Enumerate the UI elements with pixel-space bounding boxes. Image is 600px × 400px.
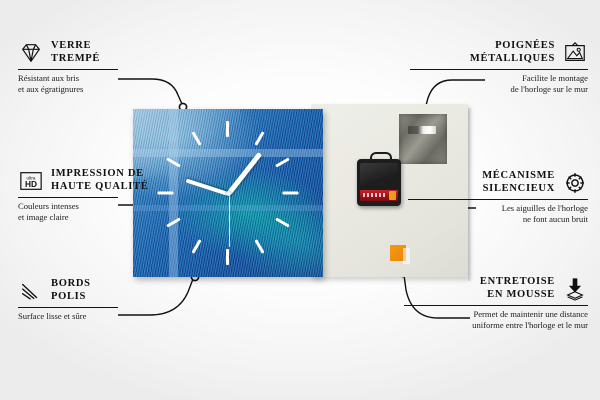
feature-title: VERRE TREMPÉ <box>51 40 100 65</box>
infographic-canvas: VERRE TREMPÉ Résistant aux bris et aux é… <box>0 0 600 400</box>
feature-title-line1: MÉCANISME <box>408 170 555 183</box>
hour-marker <box>283 192 299 195</box>
feature-header: MÉCANISME SILENCIEUX <box>408 170 588 195</box>
feature-entretoise-en-mousse: ENTRETOISE EN MOUSSE Permet de maintenir… <box>404 276 588 331</box>
hour-marker <box>275 157 289 167</box>
metal-hanger-part <box>399 114 447 164</box>
battery-part <box>360 190 398 201</box>
feature-title-line1: VERRE <box>51 40 100 53</box>
feature-rule <box>404 305 588 306</box>
feature-verre-trempe: VERRE TREMPÉ Résistant aux bris et aux é… <box>18 40 193 95</box>
diamond-icon <box>18 41 44 65</box>
feature-title-line2: POLIS <box>51 291 91 304</box>
mechanism-sheen <box>360 163 398 185</box>
clock-mechanism-part <box>357 159 401 206</box>
feature-sub-line2: ne font aucun bruit <box>408 214 588 225</box>
feature-subtitle: Facilite le montage de l'horloge sur le … <box>410 73 588 94</box>
feature-sub-line2: et image claire <box>18 212 193 223</box>
feature-title-line2: EN MOUSSE <box>404 289 555 302</box>
feature-rule <box>18 69 118 70</box>
second-hand <box>229 193 231 247</box>
feature-sub-line2: de l'horloge sur le mur <box>410 84 588 95</box>
hour-marker <box>226 249 229 265</box>
feature-mecanisme-silencieux: MÉCANISME SILENCIEUX Les aiguilles de l'… <box>408 170 588 225</box>
hour-marker <box>254 239 264 253</box>
feature-subtitle: Les aiguilles de l'horloge ne font aucun… <box>408 203 588 224</box>
battery-plus-terminal <box>389 191 396 200</box>
picture-hanger-icon <box>562 41 588 65</box>
feature-title-line1: BORDS <box>51 278 91 291</box>
feature-sub-line1: Résistant aux bris <box>18 73 193 84</box>
feature-sub-line2: et aux égratignures <box>18 84 193 95</box>
hanger-slot <box>408 126 436 134</box>
feature-header: ENTRETOISE EN MOUSSE <box>404 276 588 301</box>
battery-label <box>363 193 387 197</box>
hand-center-pin <box>226 191 231 196</box>
polished-edges-icon <box>18 279 44 303</box>
feature-title-line1: IMPRESSION DE <box>51 168 149 181</box>
ultra-hd-icon: ultra HD <box>18 169 44 193</box>
feature-title-line1: POIGNÉES <box>410 40 555 53</box>
feature-header: VERRE TREMPÉ <box>18 40 193 65</box>
feature-sub-line1: Couleurs intenses <box>18 201 193 212</box>
feature-title: MÉCANISME SILENCIEUX <box>408 170 555 195</box>
feature-title-line2: SILENCIEUX <box>408 183 555 196</box>
feature-sub-line1: Facilite le montage <box>410 73 588 84</box>
feature-poignees-metalliques: POIGNÉES MÉTALLIQUES Facilite le montage… <box>410 40 588 95</box>
feature-title: POIGNÉES MÉTALLIQUES <box>410 40 555 65</box>
feature-bords-polis: BORDS POLIS Surface lisse et sûre <box>18 278 193 322</box>
feature-header: BORDS POLIS <box>18 278 193 303</box>
hour-marker <box>275 217 289 227</box>
gear-icon <box>562 171 588 195</box>
feature-sub-line1: Permet de maintenir une distance <box>404 309 588 320</box>
foam-spacer-icon <box>562 277 588 301</box>
feature-impression-haute-qualite: ultra HD IMPRESSION DE HAUTE QUALITÉ Cou… <box>18 168 193 223</box>
feature-sub-line1: Les aiguilles de l'horloge <box>408 203 588 214</box>
feature-subtitle: Couleurs intenses et image claire <box>18 201 193 222</box>
feature-header: POIGNÉES MÉTALLIQUES <box>410 40 588 65</box>
feature-title-line2: TREMPÉ <box>51 53 100 66</box>
feature-title: BORDS POLIS <box>51 278 91 303</box>
feature-rule <box>18 307 118 308</box>
hour-marker <box>254 131 264 145</box>
pattern-band-horizontal <box>133 149 323 157</box>
feature-subtitle: Permet de maintenir une distance uniform… <box>404 309 588 330</box>
feature-title-line2: HAUTE QUALITÉ <box>51 181 149 194</box>
feature-rule <box>18 197 118 198</box>
feature-sub-line1: Surface lisse et sûre <box>18 311 193 322</box>
feature-rule <box>408 199 588 200</box>
hour-marker <box>191 239 201 253</box>
feature-subtitle: Surface lisse et sûre <box>18 311 193 322</box>
feature-title: ENTRETOISE EN MOUSSE <box>404 276 555 301</box>
hour-marker <box>226 121 229 137</box>
feature-subtitle: Résistant aux bris et aux égratignures <box>18 73 193 94</box>
feature-rule <box>410 69 588 70</box>
feature-title-line1: ENTRETOISE <box>404 276 555 289</box>
feature-title: IMPRESSION DE HAUTE QUALITÉ <box>51 168 149 193</box>
feature-header: ultra HD IMPRESSION DE HAUTE QUALITÉ <box>18 168 193 193</box>
feature-title-line2: MÉTALLIQUES <box>410 53 555 66</box>
svg-text:HD: HD <box>25 179 37 189</box>
feature-sub-line2: uniforme entre l'horloge et le mur <box>404 320 588 331</box>
foam-spacer-part <box>390 245 406 261</box>
